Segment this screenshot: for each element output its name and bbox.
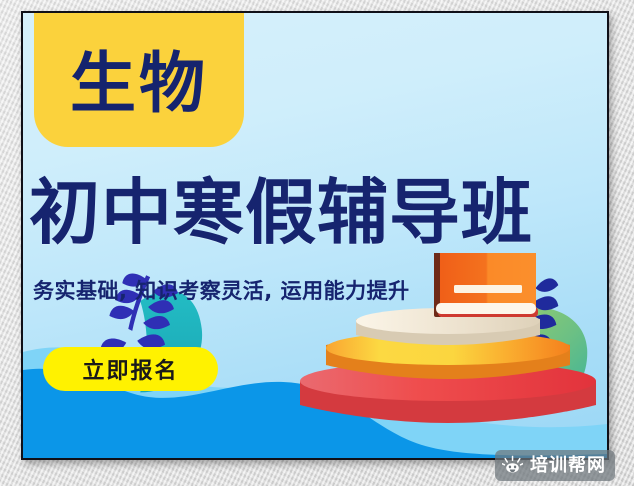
enroll-now-button[interactable]: 立即报名 bbox=[43, 347, 218, 391]
promo-banner: 生物 初中寒假辅导班 务实基础, 知识考察灵活, 运用能力提升 立即报名 bbox=[23, 13, 607, 458]
page-title: 初中寒假辅导班 bbox=[29, 177, 533, 248]
subject-badge: 生物 bbox=[34, 13, 244, 147]
watermark-badge: 培训帮网 bbox=[495, 450, 615, 481]
watermark-label: 培训帮网 bbox=[530, 457, 606, 475]
enroll-now-label: 立即报名 bbox=[82, 353, 178, 385]
subject-badge-label: 生物 bbox=[70, 41, 208, 117]
subtitle: 务实基础, 知识考察灵活, 运用能力提升 bbox=[33, 281, 410, 302]
sun-face-icon bbox=[502, 455, 523, 476]
book bbox=[434, 253, 538, 317]
banner-frame: 生物 初中寒假辅导班 务实基础, 知识考察灵活, 运用能力提升 立即报名 bbox=[21, 11, 609, 460]
